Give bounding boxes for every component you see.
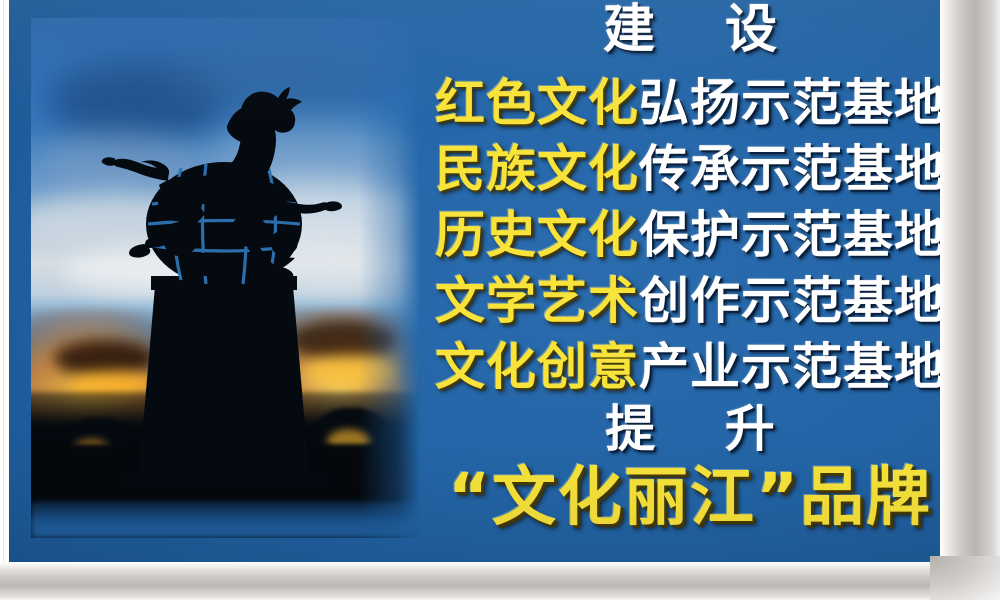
page-shadow-right <box>940 0 1000 600</box>
slogan-line: 民族文化传承示范基地 <box>429 144 951 194</box>
heading-elevate: 提 升 <box>429 404 951 454</box>
slogan-line: 文学艺术创作示范基地 <box>429 276 951 326</box>
slogan-key: 历史文化 <box>435 206 639 264</box>
flying-horse-monument-icon <box>31 18 421 538</box>
slogan-key: 红色文化 <box>435 74 639 132</box>
slogan-key: 文学艺术 <box>435 272 639 330</box>
page-shadow-bottom <box>0 562 1000 600</box>
poster-blue-panel: 建 设 红色文化弘扬示范基地 民族文化传承示范基地 历史文化保护示范基地 文学艺… <box>9 0 951 566</box>
monument-photo <box>31 18 421 538</box>
page-shadow-corner <box>930 556 1000 600</box>
poster-text-column: 建 设 红色文化弘扬示范基地 民族文化传承示范基地 历史文化保护示范基地 文学艺… <box>429 0 951 566</box>
heading-construct: 建 设 <box>429 4 951 56</box>
slogan-line: 历史文化保护示范基地 <box>429 210 951 260</box>
slogan-value: 保护示范基地 <box>639 206 945 264</box>
slogan-key: 文化创意 <box>435 338 639 396</box>
slogan-value: 产业示范基地 <box>639 338 945 396</box>
slogan-value: 创作示范基地 <box>639 272 945 330</box>
slogan-value: 传承示范基地 <box>639 140 945 198</box>
brand-slogan: “文化丽江”品牌 <box>429 466 951 530</box>
slogan-key: 民族文化 <box>435 140 639 198</box>
slogan-line: 文化创意产业示范基地 <box>429 342 951 392</box>
slogan-value: 弘扬示范基地 <box>639 74 945 132</box>
poster-page: 建 设 红色文化弘扬示范基地 民族文化传承示范基地 历史文化保护示范基地 文学艺… <box>0 0 1000 600</box>
slogan-line: 红色文化弘扬示范基地 <box>429 78 951 128</box>
